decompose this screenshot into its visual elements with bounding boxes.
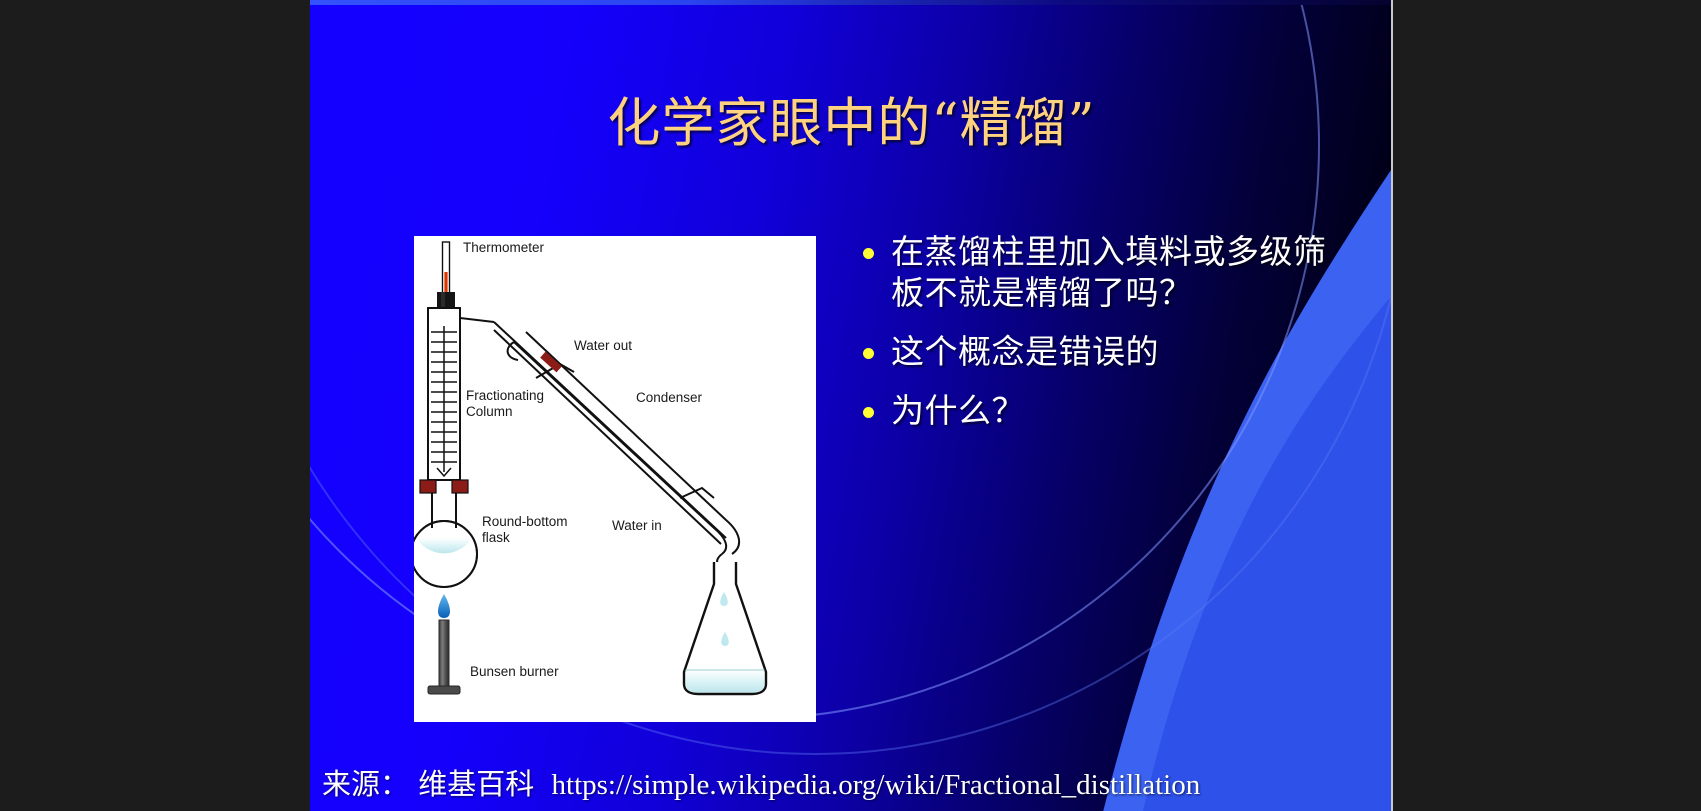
screenshot-root: 化学家眼中的“精馏” xyxy=(0,0,1701,811)
fractional-distillation-svg: Thermometer xyxy=(414,236,816,722)
bullet-dot-icon xyxy=(855,332,891,359)
presentation-slide: 化学家眼中的“精馏” xyxy=(310,0,1393,811)
label-round-bottom-flask-line1: Round-bottom xyxy=(482,514,568,529)
label-bunsen-burner: Bunsen burner xyxy=(470,664,559,679)
label-round-bottom-flask-line2: flask xyxy=(482,530,510,545)
bullet-text: 在蒸馏柱里加入填料或多级筛板不就是精馏了吗？ xyxy=(891,232,1335,314)
bullet-dot-icon xyxy=(855,391,891,418)
bullet-text: 为什么？ xyxy=(891,391,1025,432)
bullet-dot-icon xyxy=(855,232,891,259)
label-thermometer: Thermometer xyxy=(463,240,545,255)
source-citation: 来源： 维基百科 https://simple.wikipedia.org/wi… xyxy=(322,761,1200,803)
source-label: 来源： xyxy=(322,769,409,801)
bullet-list: 在蒸馏柱里加入填料或多级筛板不就是精馏了吗？ 这个概念是错误的 为什么？ xyxy=(855,232,1335,450)
label-fractionating-column-line1: Fractionating xyxy=(466,388,544,403)
source-url[interactable]: https://simple.wikipedia.org/wiki/Fracti… xyxy=(552,769,1201,801)
label-water-in: Water in xyxy=(612,518,662,533)
list-item: 在蒸馏柱里加入填料或多级筛板不就是精馏了吗？ xyxy=(855,232,1335,314)
label-water-out: Water out xyxy=(574,338,632,353)
list-item: 为什么？ xyxy=(855,391,1335,432)
distillation-diagram-image: Thermometer xyxy=(414,236,816,722)
label-fractionating-column-line2: Column xyxy=(466,404,513,419)
source-site: 维基百科 xyxy=(418,769,534,801)
bullet-text: 这个概念是错误的 xyxy=(891,332,1159,373)
slide-title: 化学家眼中的“精馏” xyxy=(310,96,1393,152)
list-item: 这个概念是错误的 xyxy=(855,332,1335,373)
slide-top-edge-highlight xyxy=(310,0,1391,5)
label-condenser: Condenser xyxy=(636,390,703,405)
